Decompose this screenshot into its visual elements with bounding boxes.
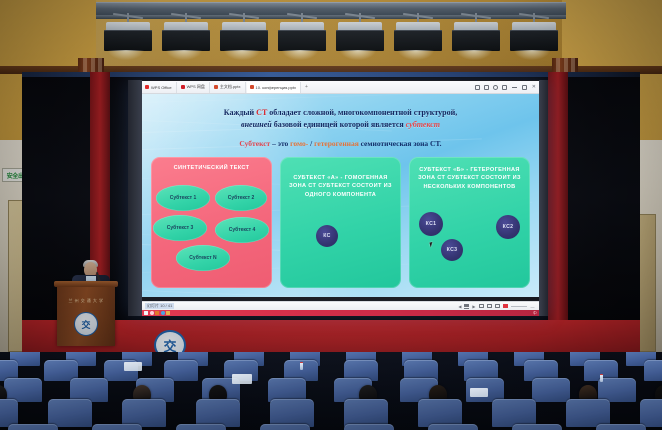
subheading-accent-homo: гомо- xyxy=(290,139,308,148)
audience-area xyxy=(0,352,662,430)
auditorium-seat xyxy=(270,399,314,427)
handout-paper xyxy=(124,362,142,371)
oval-subtext-4[interactable]: Субтекст 4 xyxy=(215,217,269,243)
light-glow-4 xyxy=(282,50,318,60)
close-icon[interactable]: ✕ xyxy=(532,84,536,90)
powerpoint-taskbar-icon[interactable] xyxy=(155,311,159,315)
windows-start-icon[interactable] xyxy=(144,311,148,315)
search-icon[interactable] xyxy=(150,311,154,315)
diagram-panels: СИНТЕТИЧЕСКИЙ ТЕКСТ Субтекст 1 Субтекст … xyxy=(151,157,530,288)
copy-icon[interactable] xyxy=(484,85,489,90)
panel-title: СИНТЕТИЧЕСКИЙ ТЕКСТ xyxy=(156,164,267,172)
light-glow-1 xyxy=(108,50,144,60)
circle-ks[interactable]: КС xyxy=(316,225,338,247)
tab-label: WPS Office xyxy=(151,85,172,90)
heading-accent-subtext: субтекст xyxy=(406,120,440,129)
save-icon[interactable] xyxy=(475,85,480,90)
light-glow-7 xyxy=(456,50,492,60)
panel-title: СУБТЕКСТ «А» - ГОМОГЕННАЯ ЗОНА СТ СУБТЕК… xyxy=(285,174,396,199)
present-icon[interactable] xyxy=(503,304,508,309)
university-emblem-icon: 交 xyxy=(74,312,98,336)
auditorium-seat xyxy=(428,424,478,430)
auditorium-seat xyxy=(196,399,240,427)
powerpoint-file-icon xyxy=(214,85,218,89)
auditorium-seat xyxy=(418,399,462,427)
folder-taskbar-icon[interactable] xyxy=(166,311,170,315)
podium-top xyxy=(54,281,118,287)
subheading-accent-hetero: гетерогенная xyxy=(314,139,359,148)
heading-accent-st: СТ xyxy=(256,108,267,117)
auditorium-seat xyxy=(344,399,388,427)
curtain-right xyxy=(548,72,568,322)
auditorium-seat xyxy=(492,399,536,427)
maximize-button[interactable] xyxy=(522,85,527,90)
water-bottle xyxy=(300,362,303,370)
subheading-post: семиотическая зона СТ. xyxy=(359,139,442,148)
light-glow-3 xyxy=(224,50,260,60)
circle-ks1[interactable]: КС1 xyxy=(419,212,443,236)
tab-wps-cloud[interactable]: WPS 网盘 xyxy=(178,82,210,93)
heading-mid: базовой единицей которой является xyxy=(272,120,406,129)
auditorium-seat xyxy=(532,378,570,402)
oval-subtext-1[interactable]: Субтекст 1 xyxy=(156,185,210,211)
auditorium-seat xyxy=(8,424,58,430)
pdf-file-icon xyxy=(181,85,185,89)
lighting-truss xyxy=(96,2,566,16)
slide-canvas[interactable]: Каждый СТ обладает сложной, многокомпоне… xyxy=(142,94,539,297)
screen-bezel-left xyxy=(128,80,142,316)
stage-light-4 xyxy=(278,22,326,52)
stage-light-3 xyxy=(220,22,268,52)
auditorium-seat xyxy=(48,399,92,427)
new-tab-button[interactable]: + xyxy=(305,84,308,90)
auditorium-seat xyxy=(344,424,394,430)
auditorium-seat xyxy=(640,399,662,427)
podium: 兰 州 交 通 大 学 交 xyxy=(57,284,115,346)
light-glow-2 xyxy=(166,50,202,60)
stage-light-1 xyxy=(104,22,152,52)
tab-label: WPS 网盘 xyxy=(187,84,205,90)
background-streak xyxy=(142,290,432,297)
oval-subtext-n[interactable]: Субтекст N xyxy=(176,245,230,271)
tab-label: 主文档.pptx xyxy=(220,84,241,90)
prev-slide-button[interactable]: ◀ xyxy=(458,304,461,309)
reading-view-icon[interactable] xyxy=(495,304,500,309)
mouse-cursor-icon xyxy=(429,241,435,247)
panel-subtext-a[interactable]: СУБТЕКСТ «А» - ГОМОГЕННАЯ ЗОНА СТ СУБТЕК… xyxy=(280,157,401,288)
light-glow-6 xyxy=(398,50,434,60)
printer-icon[interactable] xyxy=(502,85,507,90)
heading-italic: внешней xyxy=(241,120,272,129)
auditorium-seat xyxy=(122,399,166,427)
zoom-label: — xyxy=(531,304,535,309)
screen-bezel-right xyxy=(539,80,548,316)
auditorium-seat xyxy=(566,399,610,427)
panel-subtext-b[interactable]: СУБТЕКСТ «Б» - ГЕТЕРОГЕННАЯ ЗОНА СТ СУБТ… xyxy=(409,157,530,288)
zoom-slider[interactable] xyxy=(511,306,527,307)
projection-screen: WPS Office WPS 网盘 主文档.pptx 10. конференц… xyxy=(128,80,548,316)
slide-heading: Каждый СТ обладает сложной, многокомпоне… xyxy=(152,107,529,132)
heading-post: обладает сложной, многокомпонентной стру… xyxy=(267,108,457,117)
handout-paper xyxy=(470,388,488,397)
stage-light-6 xyxy=(394,22,442,52)
light-glow-5 xyxy=(340,50,376,60)
heading-pre: Каждый xyxy=(224,108,256,117)
ime-indicator[interactable]: 中 xyxy=(533,311,537,316)
light-glow-8 xyxy=(514,50,550,60)
tab-wps-office[interactable]: WPS Office xyxy=(142,82,177,93)
auditorium-seat xyxy=(596,424,646,430)
handout-paper xyxy=(232,374,252,384)
oval-subtext-2[interactable]: Субтекст 2 xyxy=(215,185,267,211)
stage-light-2 xyxy=(162,22,210,52)
background-streak xyxy=(142,94,442,103)
slide-counter: 幻灯片 10 / 41 xyxy=(145,303,174,309)
circle-ks2[interactable]: КС2 xyxy=(496,215,520,239)
wps-office-icon xyxy=(145,85,149,89)
powerpoint-status-bar: 幻灯片 10 / 41 ◀ ▶ — xyxy=(142,301,539,310)
subheading-term: Субтекст xyxy=(239,139,270,148)
app-tab-bar: WPS Office WPS 网盘 主文档.pptx 10. конференц… xyxy=(142,81,539,94)
auditorium-seat xyxy=(644,360,662,381)
minimize-button[interactable] xyxy=(512,87,517,88)
auditorium-seat xyxy=(260,424,310,430)
auditorium-seat xyxy=(512,424,562,430)
panel-title: СУБТЕКСТ «Б» - ГЕТЕРОГЕННАЯ ЗОНА СТ СУБТ… xyxy=(414,166,525,191)
tab-conference-presentation[interactable]: 10. конференция.pptx xyxy=(247,82,301,93)
tab-main-document[interactable]: 主文档.pptx xyxy=(211,82,246,93)
water-bottle xyxy=(600,374,603,382)
stage-light-5 xyxy=(336,22,384,52)
stage-light-7 xyxy=(452,22,500,52)
subheading-mid: – это xyxy=(270,139,290,148)
slide-subheading: Субтекст – это гомо- / гетерогенная семи… xyxy=(152,139,529,150)
stage-light-8 xyxy=(510,22,558,52)
panel-synthetic-text[interactable]: СИНТЕТИЧЕСКИЙ ТЕКСТ Субтекст 1 Субтекст … xyxy=(151,157,272,288)
lighting-truss-pipe xyxy=(96,15,566,19)
outline-view-icon[interactable] xyxy=(464,304,469,309)
auditorium-seat xyxy=(92,424,142,430)
windows-taskbar: 中 xyxy=(142,310,539,316)
auditorium-seat xyxy=(0,399,18,427)
next-slide-button[interactable]: ▶ xyxy=(472,304,475,309)
normal-view-icon[interactable] xyxy=(479,304,484,309)
powerpoint-file-icon xyxy=(250,85,254,89)
browser-taskbar-icon[interactable] xyxy=(161,311,165,315)
podium-label: 兰 州 交 通 大 学 xyxy=(57,298,115,304)
circle-ks3[interactable]: КС3 xyxy=(441,239,463,261)
oval-subtext-3[interactable]: Субтекст 3 xyxy=(153,215,207,241)
slide-sorter-icon[interactable] xyxy=(487,304,492,309)
tab-label: 10. конференция.pptx xyxy=(256,85,296,90)
auditorium-seat xyxy=(176,424,226,430)
help-icon[interactable] xyxy=(493,85,498,90)
auditorium-scene: 安全出口 兰 州 交 通 大 学 交 交 xyxy=(0,0,662,430)
